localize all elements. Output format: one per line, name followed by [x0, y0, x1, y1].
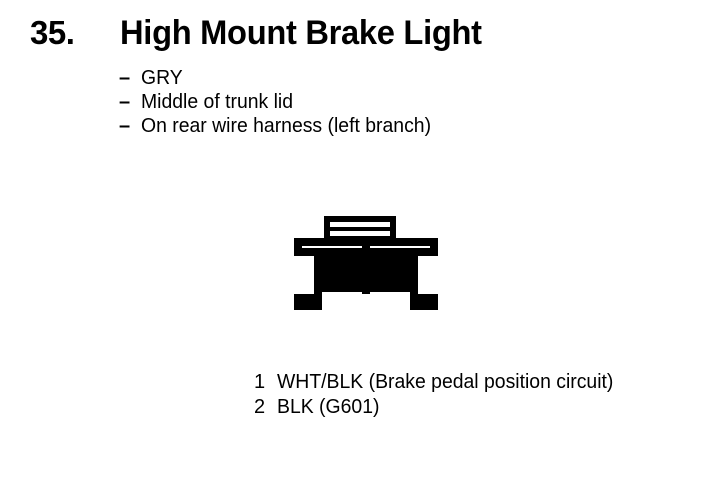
spec-list-item: – Middle of trunk lid [119, 90, 679, 114]
legend-row: 2 BLK (G601) [254, 395, 694, 420]
connector-illustration: 1 2 [282, 208, 458, 318]
spec-list-item: – GRY [119, 66, 679, 90]
connector-diagram: 1 2 [282, 208, 458, 318]
page-title: High Mount Brake Light [120, 14, 482, 52]
cavity-label-1: 1 [334, 257, 343, 276]
spec-list-item: – On rear wire harness (left branch) [119, 114, 679, 138]
legend-pin-description: BLK (G601) [277, 395, 379, 420]
legend-row: 1 WHT/BLK (Brake pedal position circuit) [254, 370, 694, 395]
legend-pin-number: 1 [254, 370, 265, 395]
legend-pin-description: WHT/BLK (Brake pedal position circuit) [277, 370, 613, 395]
spec-list-item-label: On rear wire harness (left branch) [141, 114, 431, 138]
heading-block: 35. High Mount Brake Light [0, 14, 704, 56]
cavity-label-2: 2 [384, 257, 393, 276]
spec-list-item-label: Middle of trunk lid [141, 90, 293, 114]
item-number: 35. [30, 14, 74, 52]
spec-list-item-label: GRY [141, 66, 183, 90]
locking-tab-slot-upper [330, 222, 390, 227]
legend-pin-number: 2 [254, 395, 265, 420]
cavity-divider [362, 238, 370, 294]
pin-legend: 1 WHT/BLK (Brake pedal position circuit)… [254, 370, 694, 420]
locking-tab-slot-lower [330, 231, 390, 236]
wiring-diagram-page: { "heading": { "number": "35.", "title":… [0, 0, 704, 446]
spec-list: – GRY – Middle of trunk lid – On rear wi… [119, 66, 679, 138]
dash-bullet-icon: – [119, 90, 130, 114]
dash-bullet-icon: – [119, 66, 130, 90]
dash-bullet-icon: – [119, 114, 130, 138]
